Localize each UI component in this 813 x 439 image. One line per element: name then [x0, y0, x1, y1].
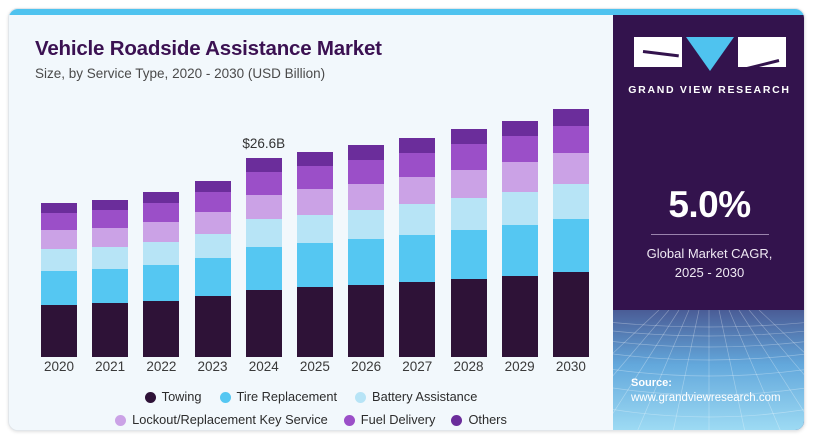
bar-segment-2025-2[interactable]: [297, 215, 333, 243]
bar-segment-2020-4[interactable]: [41, 213, 77, 230]
bar-segment-2021-2[interactable]: [92, 247, 128, 269]
legend-item-others[interactable]: Others: [451, 410, 506, 430]
bar-segment-2030-1[interactable]: [553, 219, 589, 273]
brand-logo: GRAND VIEW RESEARCH: [613, 37, 805, 96]
bar-2024[interactable]: $26.6B: [246, 158, 282, 357]
chart-panel: Vehicle Roadside Assistance Market Size,…: [9, 15, 613, 431]
legend-swatch-icon: [355, 392, 366, 403]
bar-segment-2024-0[interactable]: [246, 290, 282, 357]
logo-r-icon: [738, 37, 786, 67]
legend-item-towing[interactable]: Towing: [145, 387, 202, 407]
x-tick-2025: 2025: [297, 359, 333, 374]
bar-2020[interactable]: [41, 203, 77, 357]
bar-segment-2023-4[interactable]: [195, 192, 231, 211]
bar-segment-2027-3[interactable]: [399, 177, 435, 204]
bar-segment-2028-5[interactable]: [451, 129, 487, 144]
bar-segment-2024-5[interactable]: [246, 158, 282, 172]
bar-segment-2028-2[interactable]: [451, 198, 487, 229]
chart-plot-area: $26.6B: [35, 95, 595, 357]
x-tick-2027: 2027: [399, 359, 435, 374]
legend-label: Tire Replacement: [237, 387, 338, 407]
x-tick-2028: 2028: [451, 359, 487, 374]
legend-label: Lockout/Replacement Key Service: [132, 410, 328, 430]
legend-label: Battery Assistance: [372, 387, 477, 407]
cagr-label-line2: 2025 - 2030: [613, 263, 805, 282]
bar-segment-2023-1[interactable]: [195, 258, 231, 296]
x-tick-2024: 2024: [246, 359, 282, 374]
page-subtitle: Size, by Service Type, 2020 - 2030 (USD …: [35, 66, 325, 81]
bar-segment-2024-4[interactable]: [246, 172, 282, 194]
grid-mesh-svg: [613, 310, 805, 431]
bar-segment-2027-1[interactable]: [399, 235, 435, 282]
bar-segment-2026-4[interactable]: [348, 160, 384, 184]
bar-segment-2022-3[interactable]: [143, 222, 179, 242]
bar-series-container: $26.6B: [35, 95, 595, 357]
bar-segment-2027-5[interactable]: [399, 138, 435, 153]
bar-segment-2021-0[interactable]: [92, 303, 128, 357]
x-tick-2030: 2030: [553, 359, 589, 374]
x-tick-2020: 2020: [41, 359, 77, 374]
bar-segment-2028-4[interactable]: [451, 144, 487, 169]
brand-name: GRAND VIEW RESEARCH: [613, 84, 805, 96]
cagr-value: 5.0%: [613, 183, 805, 227]
bar-segment-2025-5[interactable]: [297, 152, 333, 166]
bar-segment-2022-5[interactable]: [143, 192, 179, 202]
x-axis-tick-labels: 2020202120222023202420252026202720282029…: [35, 359, 595, 374]
bar-2021[interactable]: [92, 200, 128, 357]
bar-2023[interactable]: [195, 181, 231, 357]
bar-segment-2028-0[interactable]: [451, 279, 487, 357]
bar-2022[interactable]: [143, 192, 179, 357]
cagr-label-line1: Global Market CAGR,: [613, 244, 805, 263]
x-tick-2023: 2023: [195, 359, 231, 374]
legend-label: Fuel Delivery: [361, 410, 436, 430]
legend-swatch-icon: [145, 392, 156, 403]
legend-swatch-icon: [451, 415, 462, 426]
value-label-2024: $26.6B: [242, 136, 285, 151]
bar-2028[interactable]: [451, 129, 487, 357]
logo-g-icon: [634, 37, 682, 67]
bar-segment-2030-2[interactable]: [553, 184, 589, 218]
bar-segment-2026-2[interactable]: [348, 210, 384, 239]
legend-item-lockout-replacement-key-service[interactable]: Lockout/Replacement Key Service: [115, 410, 328, 430]
bar-segment-2020-1[interactable]: [41, 271, 77, 305]
bar-2027[interactable]: [399, 138, 435, 357]
bar-segment-2021-4[interactable]: [92, 210, 128, 228]
bar-segment-2029-3[interactable]: [502, 162, 538, 191]
bar-segment-2020-3[interactable]: [41, 230, 77, 249]
bar-segment-2028-3[interactable]: [451, 170, 487, 198]
bar-segment-2025-1[interactable]: [297, 243, 333, 287]
bar-segment-2029-0[interactable]: [502, 276, 538, 357]
bar-segment-2030-5[interactable]: [553, 109, 589, 125]
bar-segment-2029-1[interactable]: [502, 225, 538, 277]
legend-swatch-icon: [220, 392, 231, 403]
bar-segment-2023-0[interactable]: [195, 296, 231, 357]
bar-segment-2028-1[interactable]: [451, 230, 487, 279]
bar-segment-2020-2[interactable]: [41, 249, 77, 271]
logo-v-triangle-icon: [686, 37, 734, 71]
bar-2025[interactable]: [297, 152, 333, 357]
gvr-logomark: [634, 37, 786, 71]
bar-segment-2021-1[interactable]: [92, 269, 128, 303]
bar-segment-2025-3[interactable]: [297, 189, 333, 214]
x-tick-2029: 2029: [502, 359, 538, 374]
source-url[interactable]: www.grandviewresearch.com: [631, 391, 781, 406]
legend-swatch-icon: [344, 415, 355, 426]
bar-segment-2020-5[interactable]: [41, 203, 77, 213]
bar-segment-2026-3[interactable]: [348, 184, 384, 210]
bar-segment-2024-2[interactable]: [246, 219, 282, 247]
divider: [651, 234, 769, 235]
bar-segment-2029-5[interactable]: [502, 121, 538, 137]
bar-segment-2024-1[interactable]: [246, 247, 282, 290]
bar-2026[interactable]: [348, 145, 384, 357]
legend-item-tire-replacement[interactable]: Tire Replacement: [220, 387, 338, 407]
bar-segment-2022-0[interactable]: [143, 301, 179, 357]
bar-segment-2026-5[interactable]: [348, 145, 384, 160]
x-tick-2026: 2026: [348, 359, 384, 374]
bar-segment-2024-3[interactable]: [246, 195, 282, 220]
source-attribution: Source: www.grandviewresearch.com: [631, 376, 781, 406]
bar-segment-2030-4[interactable]: [553, 126, 589, 154]
bar-segment-2027-4[interactable]: [399, 153, 435, 178]
bar-2029[interactable]: [502, 121, 538, 358]
x-tick-2021: 2021: [92, 359, 128, 374]
x-tick-2022: 2022: [143, 359, 179, 374]
bar-segment-2030-0[interactable]: [553, 272, 589, 357]
legend-item-fuel-delivery[interactable]: Fuel Delivery: [344, 410, 436, 430]
legend-label: Towing: [162, 387, 202, 407]
bar-segment-2025-4[interactable]: [297, 166, 333, 189]
bar-segment-2025-0[interactable]: [297, 287, 333, 357]
bar-segment-2027-2[interactable]: [399, 204, 435, 235]
bar-segment-2030-3[interactable]: [553, 153, 589, 184]
bar-2030[interactable]: [553, 109, 589, 357]
legend-item-battery-assistance[interactable]: Battery Assistance: [355, 387, 477, 407]
bar-segment-2026-1[interactable]: [348, 239, 384, 285]
bar-segment-2023-5[interactable]: [195, 181, 231, 192]
bar-segment-2021-5[interactable]: [92, 200, 128, 210]
bar-segment-2022-1[interactable]: [143, 265, 179, 301]
legend-row-secondary: Lockout/Replacement Key ServiceFuel Deli…: [9, 410, 613, 430]
bar-segment-2029-4[interactable]: [502, 136, 538, 162]
chart-legend: TowingTire ReplacementBattery Assistance…: [9, 387, 613, 430]
source-label: Source:: [631, 376, 781, 391]
bar-segment-2021-3[interactable]: [92, 228, 128, 247]
legend-swatch-icon: [115, 415, 126, 426]
legend-row-primary: TowingTire ReplacementBattery Assistance: [9, 387, 613, 407]
page-title: Vehicle Roadside Assistance Market: [35, 37, 382, 61]
brand-panel: GRAND VIEW RESEARCH 5.0% Global Market C…: [613, 15, 805, 431]
bar-segment-2023-2[interactable]: [195, 234, 231, 259]
legend-label: Others: [468, 410, 506, 430]
bar-segment-2022-4[interactable]: [143, 203, 179, 222]
bar-segment-2022-2[interactable]: [143, 242, 179, 265]
bar-segment-2020-0[interactable]: [41, 305, 77, 357]
bar-segment-2027-0[interactable]: [399, 282, 435, 357]
bar-segment-2023-3[interactable]: [195, 212, 231, 234]
infographic-card: Vehicle Roadside Assistance Market Size,…: [8, 8, 805, 431]
bar-segment-2029-2[interactable]: [502, 192, 538, 225]
perspective-grid-graphic: [613, 310, 805, 431]
bar-segment-2026-0[interactable]: [348, 285, 384, 357]
cagr-stat: 5.0% Global Market CAGR, 2025 - 2030: [613, 183, 805, 282]
